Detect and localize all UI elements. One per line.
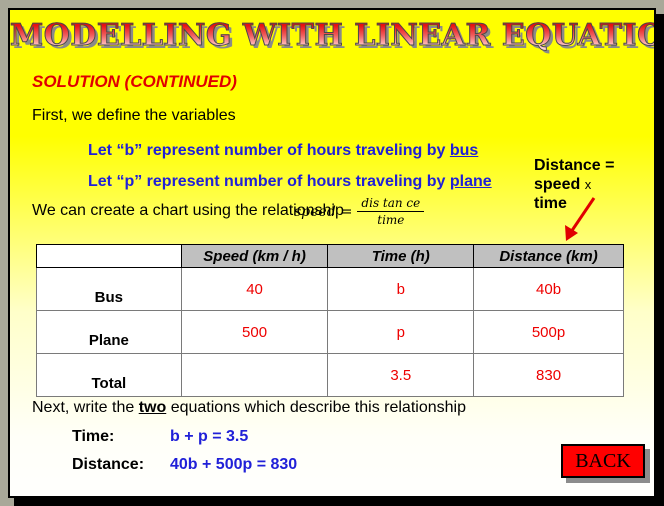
next-instruction-after: equations which describe this relationsh… xyxy=(166,399,466,416)
next-instruction-before: Next, write the xyxy=(32,399,139,416)
outer-frame: MODELLING WITH LINEAR EQUATIONS MODELLIN… xyxy=(0,0,664,506)
table-header-time: Time (h) xyxy=(328,245,474,268)
table-cell-plane-speed: 500 xyxy=(181,311,328,354)
back-button[interactable]: BACK xyxy=(561,444,645,478)
definition-bus-variable: b xyxy=(124,142,134,159)
formula-numerator: dis tan ce xyxy=(357,196,424,211)
definition-bus-underlined: bus xyxy=(450,142,478,159)
table-cell-bus-time: b xyxy=(328,268,474,311)
speed-time-distance-table: Speed (km / h) Time (h) Distance (km) Bu… xyxy=(36,244,624,397)
slide-canvas: MODELLING WITH LINEAR EQUATIONS MODELLIN… xyxy=(8,8,656,498)
next-instruction-underlined: two xyxy=(139,399,167,416)
table-header-speed: Speed (km / h) xyxy=(181,245,328,268)
table-row: Total 3.5 830 xyxy=(37,354,624,397)
table-cell-bus-speed: 40 xyxy=(181,268,328,311)
definition-plane-middle: ” represent number of hours traveling by xyxy=(134,173,450,190)
table-row-label-bus: Bus xyxy=(37,268,182,311)
definition-bus: Let “b” represent number of hours travel… xyxy=(88,142,478,160)
definition-plane-underlined: plane xyxy=(450,173,492,190)
table-cell-plane-distance: 500p xyxy=(474,311,624,354)
page-title: MODELLING WITH LINEAR EQUATIONS MODELLIN… xyxy=(10,19,654,53)
table-row: Plane 500 p 500p xyxy=(37,311,624,354)
equation-label-time: Time: xyxy=(72,428,114,446)
table-row-label-plane: Plane xyxy=(37,311,182,354)
red-arrow-icon xyxy=(550,190,610,250)
speed-formula: speed = dis tan ce time xyxy=(294,196,424,227)
table-cell-plane-time: p xyxy=(328,311,474,354)
table-header-row: Speed (km / h) Time (h) Distance (km) xyxy=(37,245,624,268)
definition-plane: Let “p” represent number of hours travel… xyxy=(88,173,492,191)
formula-lhs: speed xyxy=(294,204,336,220)
table-header-distance: Distance (km) xyxy=(474,245,624,268)
table-cell-total-distance: 830 xyxy=(474,354,624,397)
next-instruction: Next, write the two equations which desc… xyxy=(32,399,466,417)
table-cell-total-time: 3.5 xyxy=(328,354,474,397)
table-row-label-total: Total xyxy=(37,354,182,397)
section-subtitle: SOLUTION (CONTINUED) xyxy=(32,72,237,92)
formula-equals: = xyxy=(341,204,353,220)
formula-fraction: dis tan ce time xyxy=(357,196,424,227)
table-cell-bus-distance: 40b xyxy=(474,268,624,311)
annotation-line-1: Distance = xyxy=(534,156,614,175)
page-title-text: MODELLING WITH LINEAR EQUATIONS xyxy=(10,18,656,53)
definition-plane-variable: p xyxy=(124,173,134,190)
definition-bus-prefix: Let “ xyxy=(88,142,124,159)
table-cell-total-speed xyxy=(181,354,328,397)
equation-value-distance: 40b + 500p = 830 xyxy=(170,456,297,474)
definition-plane-prefix: Let “ xyxy=(88,173,124,190)
equation-label-distance: Distance: xyxy=(72,456,144,474)
intro-text: First, we define the variables xyxy=(32,107,236,125)
table-row: Bus 40 b 40b xyxy=(37,268,624,311)
formula-denominator: time xyxy=(357,212,424,227)
definition-bus-middle: ” represent number of hours traveling by xyxy=(134,142,450,159)
table-header-corner xyxy=(37,245,182,268)
equation-value-time: b + p = 3.5 xyxy=(170,428,248,446)
